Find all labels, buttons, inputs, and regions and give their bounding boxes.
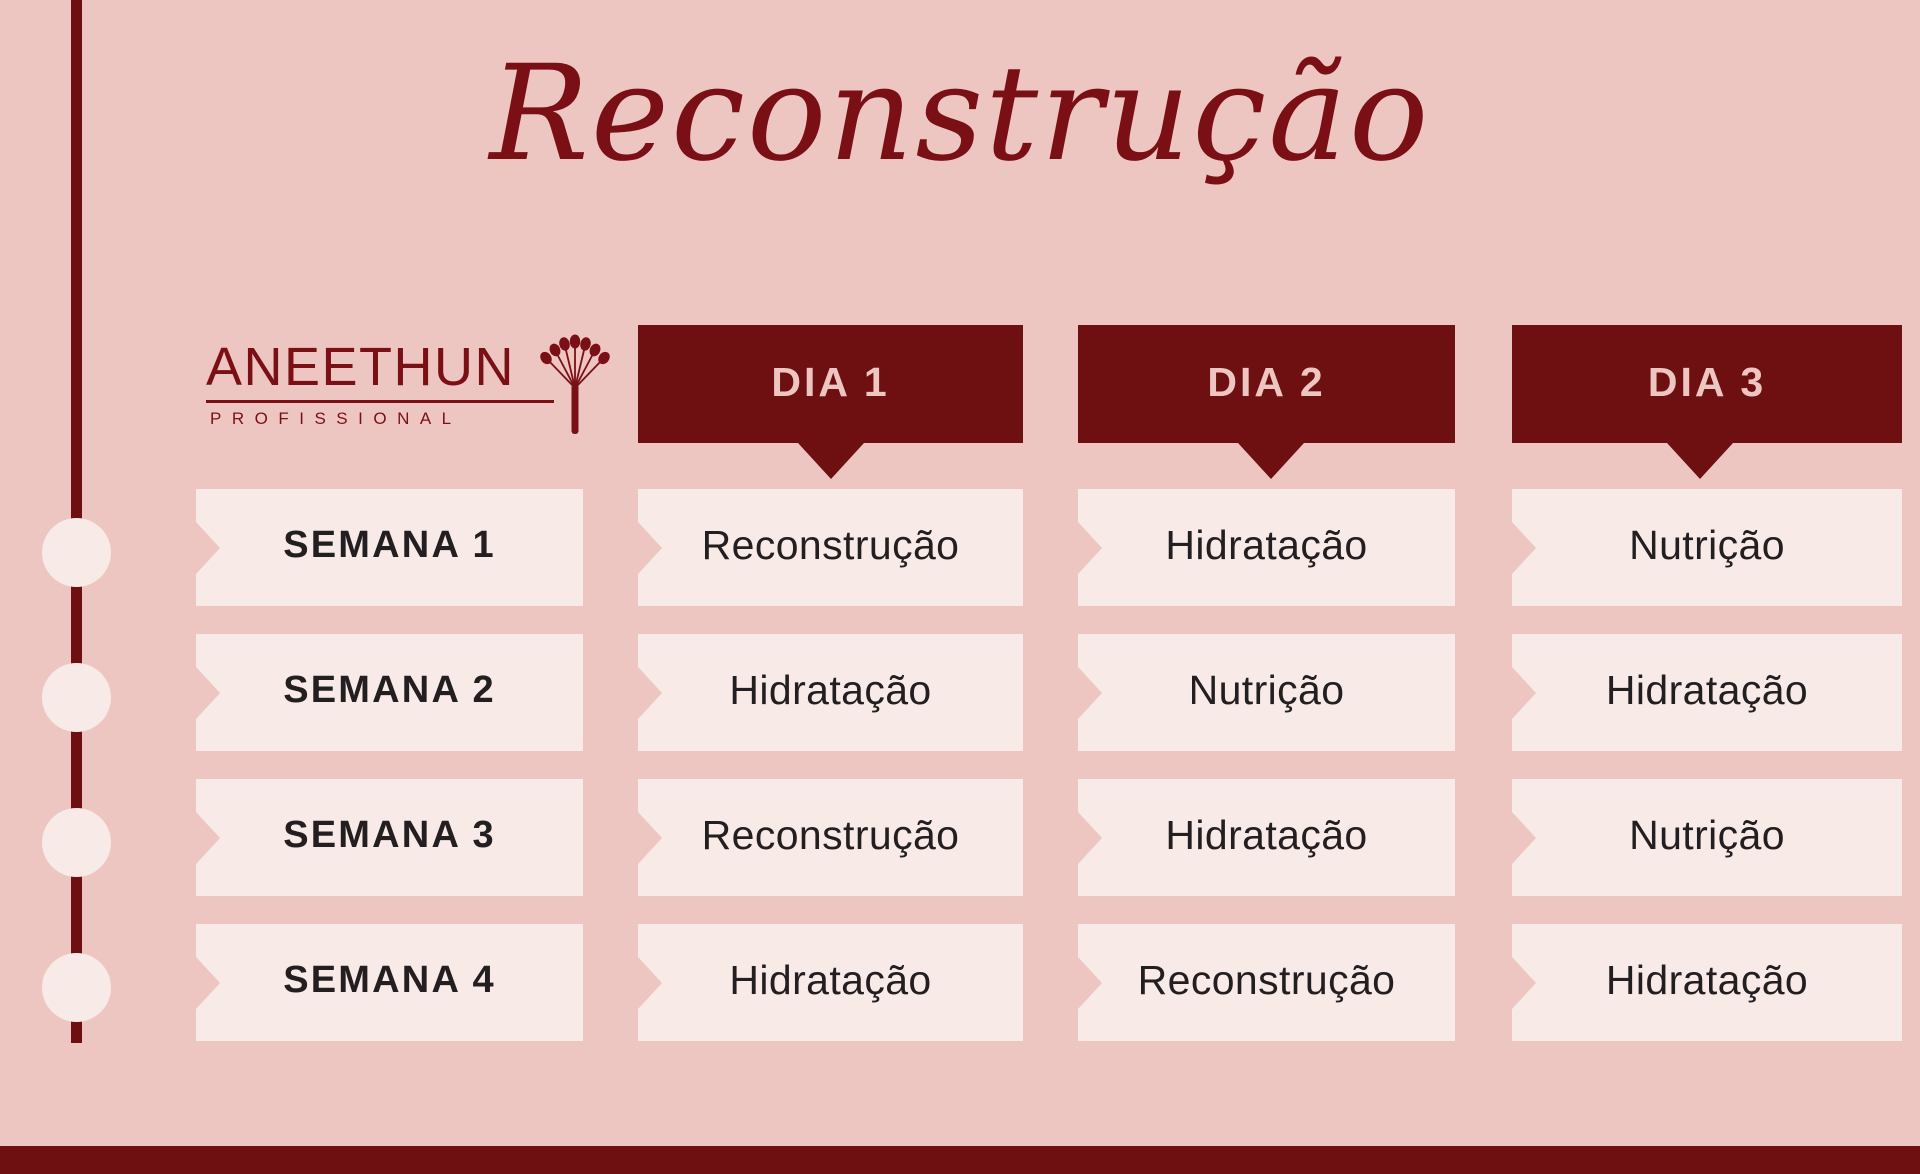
timeline-dot-week-1 <box>42 518 111 587</box>
timeline-dot-week-3 <box>42 808 111 877</box>
week-label: SEMANA 4 <box>196 924 583 1041</box>
treatment-cell[interactable]: Hidratação <box>1512 634 1902 751</box>
treatment-cell[interactable]: Nutrição <box>1512 779 1902 896</box>
treatment-cell[interactable]: Hidratação <box>1078 489 1455 606</box>
week-label-cell[interactable]: SEMANA 2 <box>196 634 583 751</box>
day-header-label: DIA 3 <box>1512 359 1902 406</box>
day-header-label: DIA 1 <box>638 359 1023 406</box>
treatment-label: Nutrição <box>1512 489 1902 606</box>
day-header-pointer-icon <box>1667 443 1733 479</box>
dandelion-icon <box>536 326 614 434</box>
week-label: SEMANA 3 <box>196 779 583 896</box>
day-header-label: DIA 2 <box>1078 359 1455 406</box>
treatment-label: Nutrição <box>1078 634 1455 751</box>
week-label-cell[interactable]: SEMANA 1 <box>196 489 583 606</box>
treatment-label: Reconstrução <box>1078 924 1455 1041</box>
day-header-pointer-icon <box>1238 443 1304 479</box>
day-header-pointer-icon <box>798 443 864 479</box>
day-header-dia-3[interactable]: DIA 3 <box>1512 325 1902 443</box>
treatment-label: Reconstrução <box>638 779 1023 896</box>
day-header-dia-1[interactable]: DIA 1 <box>638 325 1023 443</box>
treatment-cell[interactable]: Reconstrução <box>1078 924 1455 1041</box>
treatment-cell[interactable]: Hidratação <box>638 634 1023 751</box>
week-label-cell[interactable]: SEMANA 4 <box>196 924 583 1041</box>
treatment-label: Nutrição <box>1512 779 1902 896</box>
day-header-dia-2[interactable]: DIA 2 <box>1078 325 1455 443</box>
brand-wordmark: ANEETHUN <box>206 338 515 396</box>
treatment-cell[interactable]: Hidratação <box>638 924 1023 1041</box>
brand-tagline: PROFISSIONAL <box>210 408 462 430</box>
timeline-dot-week-4 <box>42 953 111 1022</box>
page-title: Reconstrução <box>0 48 1920 180</box>
treatment-label: Hidratação <box>1512 634 1902 751</box>
bottom-accent-bar <box>0 1146 1920 1174</box>
brand-divider <box>206 400 554 403</box>
brand-logo: ANEETHUN PROFISSIONAL <box>206 338 606 428</box>
treatment-label: Hidratação <box>1078 779 1455 896</box>
week-label: SEMANA 2 <box>196 634 583 751</box>
treatment-cell[interactable]: Nutrição <box>1512 489 1902 606</box>
treatment-label: Reconstrução <box>638 489 1023 606</box>
treatment-cell[interactable]: Nutrição <box>1078 634 1455 751</box>
treatment-cell[interactable]: Hidratação <box>1512 924 1902 1041</box>
treatment-cell[interactable]: Reconstrução <box>638 779 1023 896</box>
week-label: SEMANA 1 <box>196 489 583 606</box>
treatment-label: Hidratação <box>1078 489 1455 606</box>
treatment-cell[interactable]: Hidratação <box>1078 779 1455 896</box>
treatment-label: Hidratação <box>638 634 1023 751</box>
treatment-label: Hidratação <box>1512 924 1902 1041</box>
week-label-cell[interactable]: SEMANA 3 <box>196 779 583 896</box>
treatment-label: Hidratação <box>638 924 1023 1041</box>
treatment-cell[interactable]: Reconstrução <box>638 489 1023 606</box>
timeline-dot-week-2 <box>42 663 111 732</box>
